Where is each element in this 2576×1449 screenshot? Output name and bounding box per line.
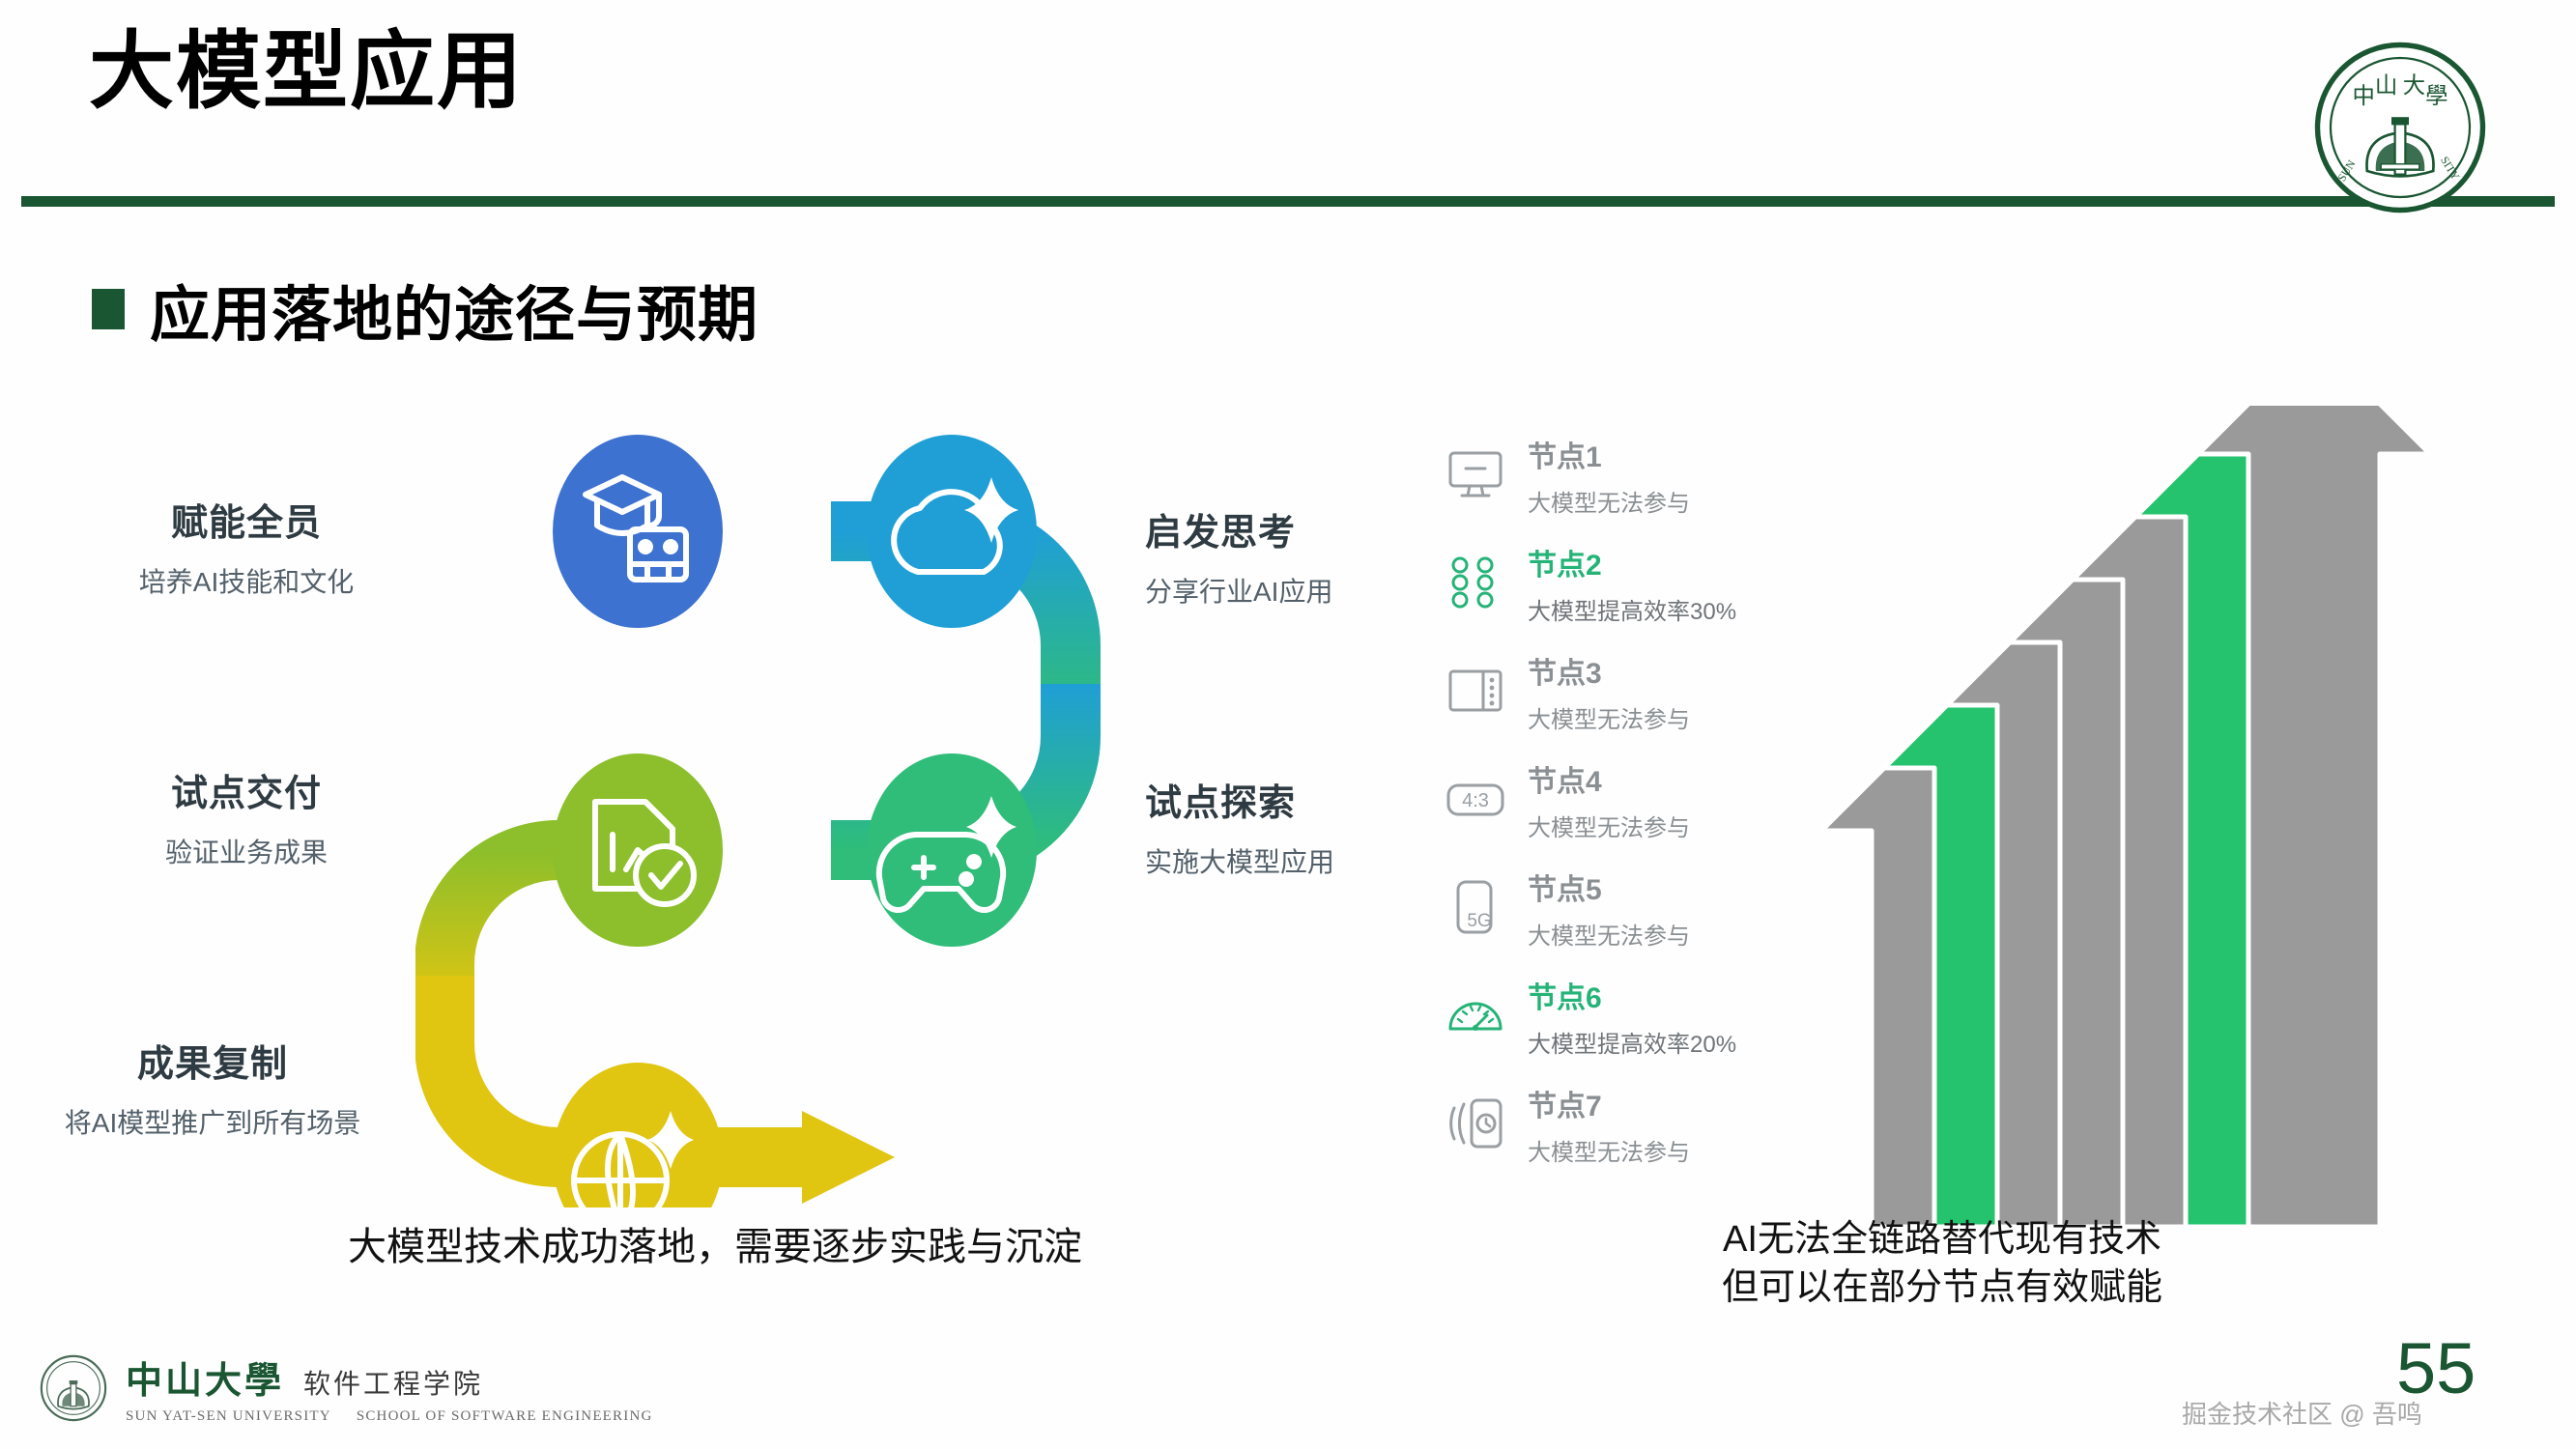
- nodes-caption-line2: 但可以在部分节点有效赋能: [1633, 1264, 2251, 1312]
- clock-card-icon: [1445, 1093, 1506, 1154]
- svg-text:山: 山: [2375, 72, 2397, 99]
- phone-5g-icon: 5G: [1445, 876, 1506, 938]
- journey-title-2: 试点探索: [1145, 773, 1464, 826]
- svg-text:4:3: 4:3: [1462, 790, 1489, 811]
- journey-title-4: 成果复制: [19, 1034, 406, 1087]
- section-heading-label: 应用落地的途径与预期: [150, 266, 758, 353]
- journey-label-replicate: 成果复制 将AI模型推广到所有场景: [19, 1034, 406, 1141]
- node-row-1: 节点1 大模型无法参与: [1445, 440, 1831, 548]
- monitor-icon: [1445, 443, 1506, 505]
- footer-seal-icon: [39, 1353, 108, 1423]
- panel-list-icon: [1445, 660, 1506, 722]
- nodes-caption: AI无法全链路替代现有技术 但可以在部分节点有效赋能: [1633, 1215, 2251, 1312]
- journey-subtitle-4: 将AI模型推广到所有场景: [19, 1102, 406, 1141]
- node-row-2: 节点2 大模型提高效率30%: [1445, 548, 1831, 656]
- page-number: 55: [2396, 1333, 2503, 1405]
- node-title-5: 节点5: [1528, 874, 1690, 908]
- node-desc-1: 大模型无法参与: [1528, 484, 1690, 518]
- node-title-1: 节点1: [1528, 441, 1690, 475]
- section-bullet-icon: [92, 289, 125, 329]
- svg-text:學: 學: [2425, 83, 2447, 109]
- journey-caption: 大模型技术成功落地，需要逐步实践与沉淀: [242, 1215, 1188, 1271]
- gauge-icon: [1445, 984, 1506, 1046]
- node-row-4: 4:3 节点4 大模型无法参与: [1445, 764, 1831, 872]
- node-row-6: 节点6 大模型提高效率20%: [1445, 980, 1831, 1089]
- node-title-6: 节点6: [1528, 982, 1736, 1016]
- journey-subtitle-1: 分享行业AI应用: [1145, 571, 1464, 610]
- footer-cn-primary: 中山大學: [126, 1350, 284, 1404]
- watermark: 掘金技术社区 @ 吾鸣: [2182, 1395, 2422, 1431]
- ascending-arrows-chart: [1783, 406, 2556, 1227]
- node-desc-4: 大模型无法参与: [1528, 809, 1690, 842]
- aspect-ratio-4-3-icon: 4:3: [1445, 768, 1506, 830]
- node-desc-7: 大模型无法参与: [1528, 1133, 1690, 1167]
- journey-label-pilot-delivery: 试点交付 验证业务成果: [87, 763, 406, 870]
- node-row-5: 5G 节点5 大模型无法参与: [1445, 872, 1831, 980]
- footer-university-logo: 中山大學 软件工程学院 SUN YAT-SEN UNIVERSITY SCHOO…: [39, 1350, 653, 1425]
- page-title: 大模型应用: [89, 27, 524, 116]
- university-seal-icon: 中山 大學 SUN SITY: [2313, 41, 2487, 214]
- node-list: 节点1 大模型无法参与 节点2 大模型提高效率30%: [1445, 440, 1831, 1197]
- journey-subtitle-3: 验证业务成果: [87, 832, 406, 870]
- journey-subtitle-0: 培养AI技能和文化: [87, 561, 406, 600]
- journey-label-explore: 试点探索 实施大模型应用: [1145, 773, 1464, 880]
- journey-title-3: 试点交付: [87, 763, 406, 816]
- title-divider: [21, 196, 2555, 207]
- flow-node-explore: [867, 753, 1037, 947]
- node-title-4: 节点4: [1528, 766, 1690, 800]
- node-title-2: 节点2: [1528, 550, 1736, 583]
- footer-en-primary: SUN YAT-SEN UNIVERSITY: [126, 1408, 331, 1425]
- node-row-3: 节点3 大模型无法参与: [1445, 656, 1831, 764]
- node-desc-5: 大模型无法参与: [1528, 917, 1690, 951]
- journey-title-1: 启发思考: [1145, 502, 1464, 555]
- journey-label-inspire: 启发思考 分享行业AI应用: [1145, 502, 1464, 610]
- svg-text:中: 中: [2353, 83, 2375, 109]
- footer-cn-secondary: 软件工程学院: [303, 1363, 483, 1402]
- watermark-text: 掘金技术社区 @ 吾鸣: [2182, 1395, 2422, 1431]
- nodes-caption-line1: AI无法全链路替代现有技术: [1633, 1215, 2251, 1264]
- footer-en-secondary: SCHOOL OF SOFTWARE ENGINEERING: [357, 1408, 653, 1425]
- journey-label-enable-all: 赋能全员 培养AI技能和文化: [87, 493, 406, 600]
- svg-text:5G: 5G: [1467, 911, 1491, 931]
- slide-root: 大模型应用 中山 大學 SUN SITY 应用落地的途径与预期 赋能全员 培养A…: [0, 0, 2576, 1449]
- node-desc-3: 大模型无法参与: [1528, 700, 1690, 734]
- journey-subtitle-2: 实施大模型应用: [1145, 841, 1464, 880]
- section-heading: 应用落地的途径与预期: [92, 266, 758, 353]
- node-desc-2: 大模型提高效率30%: [1528, 592, 1736, 626]
- svg-text:大: 大: [2403, 72, 2425, 99]
- node-title-3: 节点3: [1528, 658, 1690, 692]
- node-desc-6: 大模型提高效率20%: [1528, 1025, 1736, 1059]
- dots-grid-icon: [1445, 552, 1506, 613]
- node-title-7: 节点7: [1528, 1091, 1690, 1124]
- node-row-7: 节点7 大模型无法参与: [1445, 1089, 1831, 1197]
- journey-flow-diagram: [415, 425, 1131, 1207]
- journey-title-0: 赋能全员: [87, 493, 406, 546]
